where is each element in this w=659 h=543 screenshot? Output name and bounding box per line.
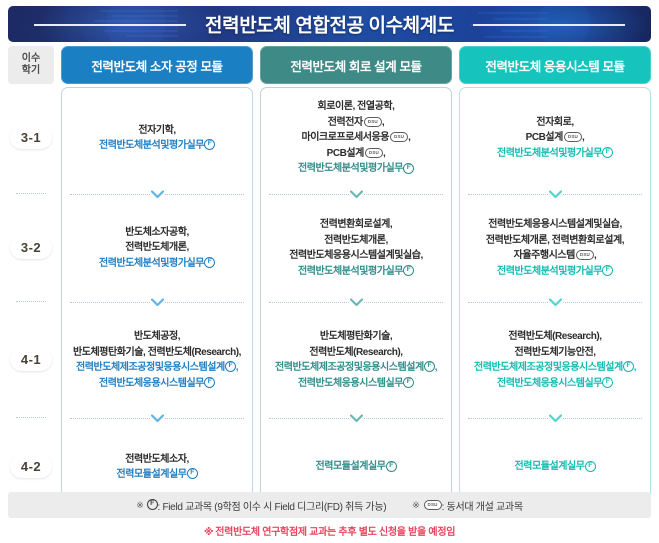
course-line: 전력반도체개론, — [125, 240, 189, 256]
course-name: 자율주행시스템 — [514, 250, 575, 261]
field-course-badge-icon: F — [225, 361, 236, 372]
flow-separator — [460, 296, 650, 308]
field-course-badge-icon: F — [187, 468, 198, 479]
course-cell-4-1-module-1: 반도체공정,반도체평탄화기술, 전력반도체(Research),전력반도체제조공… — [62, 308, 252, 412]
course-line: 전력반도체응용시스템실무F — [298, 376, 414, 392]
module-body-1: 전자기학,전력반도체분석및평가실무F 반도체소자공학,전력반도체개론,전력반도체… — [61, 87, 253, 511]
course-name: 전력반도체개론, 전력변환회로설계, — [486, 235, 624, 246]
course-cell-4-1-module-2: 반도체평탄화기술,전력반도체(Research),전력반도체제조공정및응용시스템… — [261, 308, 451, 412]
curriculum-diagram: 전력반도체 연합전공 이수체계도 이수 학기 3-1 3-2 4-1 — [0, 0, 659, 543]
course-name: PCB설계 — [526, 132, 563, 143]
course-line: 전자기학, — [138, 123, 175, 139]
chevron-down-icon — [548, 297, 562, 307]
course-name: 전력모듈설계실무 — [515, 461, 585, 472]
semester-cell-3-2: 3-2 — [8, 199, 54, 295]
course-line-suffix: , — [594, 250, 596, 261]
course-name: 전력반도체제조공정및응용시스템설계 — [76, 362, 225, 373]
chevron-down-icon — [548, 189, 562, 199]
semester-column: 이수 학기 3-1 3-2 4-1 4-2 — [8, 46, 54, 511]
course-name: 전력반도체응용시스템실무 — [497, 378, 602, 389]
course-cell-4-1-module-3: 전력반도체(Research),전력반도체기능안전,전력반도체제조공정및응용시스… — [460, 308, 650, 412]
course-line: 전력전자DSU, — [328, 115, 384, 131]
course-name: 전력반도체제조공정및응용시스템설계 — [474, 362, 623, 373]
course-name: 전력반도체개론, — [125, 242, 189, 253]
course-line-suffix: , — [408, 132, 410, 143]
dsu-course-badge-icon: DSU — [564, 132, 582, 142]
semester-cell-4-1: 4-1 — [8, 307, 54, 411]
course-cell-3-2-module-3: 전력반도체응용시스템설계및실습,전력반도체개론, 전력변환회로설계,자율주행시스… — [460, 200, 650, 296]
course-name: 전력모듈설계실무 — [316, 461, 386, 472]
course-line-suffix: , — [582, 132, 584, 143]
course-name: 전력반도체응용시스템설계및실습, — [488, 219, 622, 230]
course-line: 전력반도체제조공정및응용시스템설계F, — [275, 360, 437, 376]
course-name: 전력반도체분석및평가실무 — [497, 266, 602, 277]
semester-spacer-3 — [8, 411, 54, 423]
course-line-suffix: , — [435, 362, 437, 373]
course-line: 반도체평탄화기술, — [320, 329, 392, 345]
field-course-badge-icon: F — [403, 265, 414, 276]
course-cell-3-1-module-2: 회로이론, 전열공학,전력전자DSU,마이크로프로세서응용DSU,PCB설계DS… — [261, 88, 451, 188]
course-line-suffix: , — [383, 148, 385, 159]
course-name: 전력반도체응용시스템실무 — [99, 378, 204, 389]
course-name: 전력반도체응용시스템설계및실습, — [289, 250, 423, 261]
course-line: 전력반도체분석및평가실무F — [298, 264, 414, 280]
course-name: 전력반도체분석및평가실무 — [99, 140, 204, 151]
course-name: 전력반도체제조공정및응용시스템설계 — [275, 362, 424, 373]
research-credit-note: ※전력반도체 연구학점제 교과는 추후 별도 신청을 받을 예정임 — [0, 523, 659, 538]
page-title: 전력반도체 연합전공 이수체계도 — [8, 11, 651, 38]
flow-separator — [261, 188, 451, 200]
legend-field-course: ※ F : Field 교과목 (9학점 이수 시 Field 디그리(FD) … — [136, 498, 386, 513]
course-name: 전력반도체개론, — [324, 235, 388, 246]
course-name: 전력반도체분석및평가실무 — [497, 148, 602, 159]
semester-pill: 3-1 — [10, 126, 52, 149]
module-body-2: 회로이론, 전열공학,전력전자DSU,마이크로프로세서응용DSU,PCB설계DS… — [260, 87, 452, 511]
dsu-course-badge-icon: DSU — [576, 250, 594, 260]
course-name: 전력반도체분석및평가실무 — [99, 258, 204, 269]
note-star-icon: ※ — [204, 527, 213, 538]
course-line: 전력반도체응용시스템실무F — [99, 376, 215, 392]
semester-header-line2: 학기 — [22, 65, 40, 78]
legend-bar: ※ F : Field 교과목 (9학점 이수 시 Field 디그리(FD) … — [8, 492, 651, 518]
legend-dsu-text: : 동서대 개설 교과목 — [442, 498, 523, 513]
chevron-down-icon — [349, 189, 363, 199]
course-name: PCB설계 — [327, 148, 364, 159]
course-line: 반도체평탄화기술, 전력반도체(Research), — [73, 345, 241, 361]
module-column-3: 전력반도체 응용시스템 모듈 전자회로,PCB설계DSU,전력반도체분석및평가실… — [459, 46, 651, 511]
flow-separator — [261, 412, 451, 424]
course-cell-3-1-module-3: 전자회로,PCB설계DSU,전력반도체분석및평가실무F — [460, 88, 650, 188]
course-name: 전력반도체분석및평가실무 — [298, 163, 403, 174]
course-cell-3-1-module-1: 전자기학,전력반도체분석및평가실무F — [62, 88, 252, 188]
field-course-badge-icon: F — [585, 461, 596, 472]
course-line-suffix: , — [236, 362, 238, 373]
course-line: 전력반도체분석및평가실무F — [99, 256, 215, 272]
field-course-badge-icon: F — [602, 265, 613, 276]
course-line: 전력반도체기능안전, — [514, 345, 595, 361]
legend-field-text: : Field 교과목 (9학점 이수 시 Field 디그리(FD) 취득 가… — [158, 498, 387, 513]
course-line: 전력반도체(Research), — [309, 345, 402, 361]
field-course-badge-icon: F — [602, 377, 613, 388]
course-line: 전력모듈설계실무F — [316, 459, 397, 475]
course-name: 전력반도체(Research), — [508, 331, 601, 342]
semester-column-header: 이수 학기 — [8, 46, 54, 84]
legend-star-icon: ※ — [136, 500, 143, 511]
course-cell-3-2-module-1: 반도체소자공학,전력반도체개론,전력반도체분석및평가실무F — [62, 200, 252, 296]
chevron-down-icon — [150, 189, 164, 199]
dsu-course-badge-icon: DSU — [390, 132, 408, 142]
field-course-badge-icon: F — [424, 361, 435, 372]
course-line: PCB설계DSU, — [526, 130, 585, 146]
field-course-badge-icon: F — [403, 163, 414, 174]
module-header-3[interactable]: 전력반도체 응용시스템 모듈 — [459, 46, 651, 84]
field-course-badge-icon: F — [204, 139, 215, 150]
dsu-course-badge-icon: DSU — [365, 148, 383, 158]
field-course-badge-icon: F — [403, 377, 414, 388]
chevron-down-icon — [548, 413, 562, 423]
curriculum-grid: 이수 학기 3-1 3-2 4-1 4-2 — [8, 46, 651, 511]
field-course-badge-icon: F — [147, 499, 158, 510]
course-line: 반도체공정, — [134, 329, 180, 345]
research-credit-note-text: 전력반도체 연구학점제 교과는 추후 별도 신청을 받을 예정임 — [215, 527, 455, 538]
course-line: 전력반도체소자, — [125, 452, 189, 468]
module-header-1[interactable]: 전력반도체 소자 공정 모듈 — [61, 46, 253, 84]
course-line: 전력반도체(Research), — [508, 329, 601, 345]
field-course-badge-icon: F — [386, 461, 397, 472]
course-line: 자율주행시스템DSU, — [514, 248, 597, 264]
flow-separator — [62, 412, 252, 424]
course-name: 전력반도체기능안전, — [514, 347, 595, 358]
dsu-course-badge-icon: DSU — [364, 117, 382, 127]
course-name: 전자회로, — [536, 117, 573, 128]
course-line: 전력반도체개론, 전력변환회로설계, — [486, 233, 624, 249]
course-name: 전력전자 — [328, 117, 363, 128]
course-line: 전력반도체응용시스템설계및실습, — [488, 217, 622, 233]
legend-dsu-course: ※ DSU : 동서대 개설 교과목 — [412, 498, 522, 513]
course-name: 전력반도체분석및평가실무 — [298, 266, 403, 277]
semester-spacer-1 — [8, 187, 54, 199]
course-line: 전력반도체분석및평가실무F — [497, 146, 613, 162]
course-name: 전력반도체응용시스템실무 — [298, 378, 403, 389]
course-line: 반도체소자공학, — [125, 225, 189, 241]
flow-separator — [62, 296, 252, 308]
course-line: 전자회로, — [536, 115, 573, 131]
course-name: 전력모듈설계실무 — [117, 469, 187, 480]
course-line: 전력모듈설계실무F — [117, 467, 198, 483]
course-line: 전력반도체제조공정및응용시스템설계F, — [76, 360, 238, 376]
flow-separator — [62, 188, 252, 200]
semester-list: 3-1 3-2 4-1 4-2 — [8, 87, 54, 509]
course-name: 전력반도체(Research), — [309, 347, 402, 358]
field-course-badge-icon: F — [602, 147, 613, 158]
course-name: 전자기학, — [138, 125, 175, 136]
module-column-1: 전력반도체 소자 공정 모듈 전자기학,전력반도체분석및평가실무F 반도체소자공… — [61, 46, 253, 511]
module-body-3: 전자회로,PCB설계DSU,전력반도체분석및평가실무F 전력반도체응용시스템설계… — [459, 87, 651, 511]
course-name: 전력반도체소자, — [125, 454, 189, 465]
course-line: 전력반도체분석및평가실무F — [99, 138, 215, 154]
course-line: 전력반도체제조공정및응용시스템설계F, — [474, 360, 636, 376]
course-line: 전력반도체분석및평가실무F — [298, 161, 414, 177]
legend-star-icon: ※ — [412, 500, 419, 511]
course-line: 전력반도체응용시스템설계및실습, — [289, 248, 423, 264]
course-name: 회로이론, 전열공학, — [318, 101, 395, 112]
course-cell-3-2-module-2: 전력변환회로설계,전력반도체개론,전력반도체응용시스템설계및실습,전력반도체분석… — [261, 200, 451, 296]
course-line: 전력모듈설계실무F — [515, 459, 596, 475]
dsu-course-badge-icon: DSU — [424, 500, 442, 510]
course-name: 반도체평탄화기술, — [320, 331, 392, 342]
field-course-badge-icon: F — [204, 377, 215, 388]
semester-pill: 3-2 — [10, 236, 52, 259]
semester-spacer-2 — [8, 295, 54, 307]
course-line: PCB설계DSU, — [327, 146, 386, 162]
flow-separator — [460, 188, 650, 200]
course-name: 반도체공정, — [134, 331, 180, 342]
chevron-down-icon — [349, 413, 363, 423]
field-course-badge-icon: F — [623, 361, 634, 372]
course-line: 전력변환회로설계, — [320, 217, 392, 233]
course-name: 반도체평탄화기술, 전력반도체(Research), — [73, 347, 241, 358]
flow-separator — [261, 296, 451, 308]
chevron-down-icon — [150, 297, 164, 307]
semester-header-line1: 이수 — [22, 53, 40, 66]
chevron-down-icon — [349, 297, 363, 307]
flow-separator — [460, 412, 650, 424]
course-line: 회로이론, 전열공학, — [318, 99, 395, 115]
course-line-suffix: , — [382, 117, 384, 128]
course-line: 마이크로프로세서응용DSU, — [302, 130, 411, 146]
course-name: 전력변환회로설계, — [320, 219, 392, 230]
course-line-suffix: , — [634, 362, 636, 373]
semester-pill: 4-1 — [10, 348, 52, 371]
course-line: 전력반도체개론, — [324, 233, 388, 249]
course-line: 전력반도체분석및평가실무F — [497, 264, 613, 280]
module-header-2[interactable]: 전력반도체 회로 설계 모듈 — [260, 46, 452, 84]
semester-pill: 4-2 — [10, 455, 52, 478]
page-header-banner: 전력반도체 연합전공 이수체계도 — [8, 6, 651, 42]
course-name: 마이크로프로세서응용 — [302, 132, 390, 143]
semester-cell-3-1: 3-1 — [8, 87, 54, 187]
course-name: 반도체소자공학, — [125, 227, 189, 238]
course-line: 전력반도체응용시스템실무F — [497, 376, 613, 392]
chevron-down-icon — [150, 413, 164, 423]
field-course-badge-icon: F — [204, 257, 215, 268]
module-column-2: 전력반도체 회로 설계 모듈 회로이론, 전열공학,전력전자DSU,마이크로프로… — [260, 46, 452, 511]
